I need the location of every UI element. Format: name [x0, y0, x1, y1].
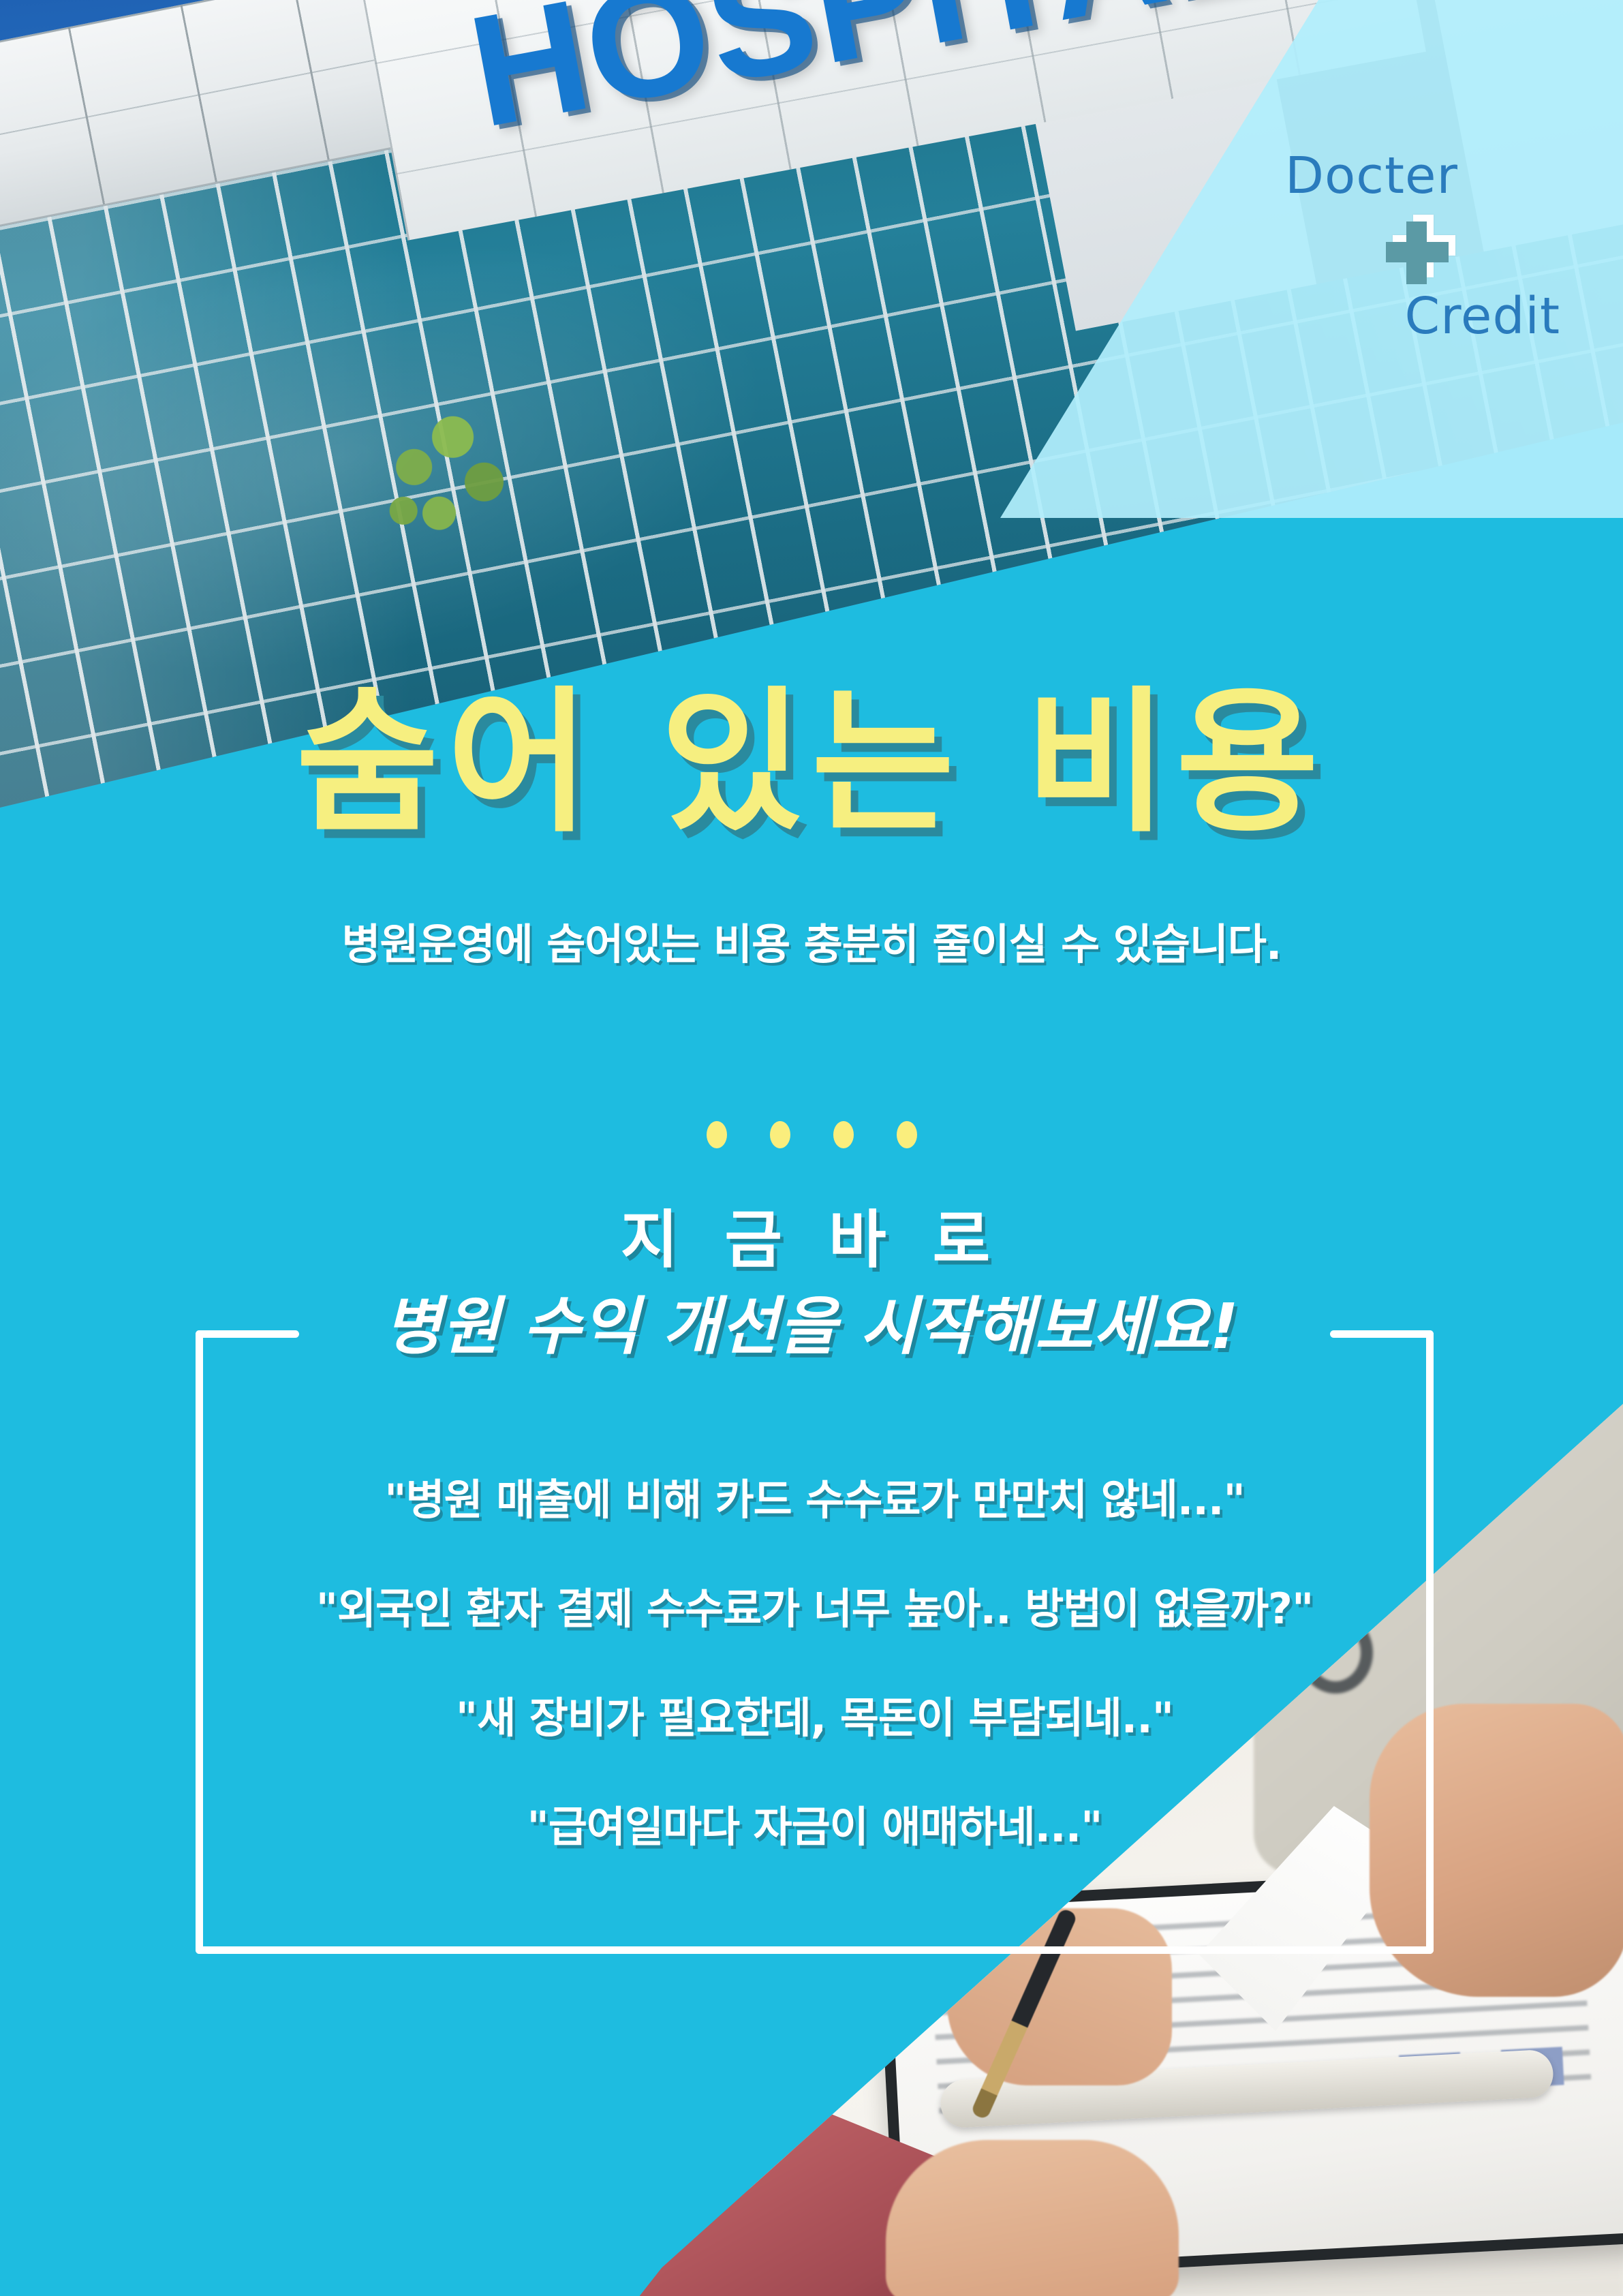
brand-logo: Docter Credit	[1281, 147, 1567, 385]
medical-cross-icon	[1393, 215, 1455, 277]
quote-item-3: "새 장비가 필요한데, 목돈이 부담되네.."	[196, 1683, 1434, 1745]
page-subtitle: 병원운영에 숨어있는 비용 충분히 줄이실 수 있습니다.	[0, 910, 1623, 971]
frame-bottom-edge	[196, 1946, 1434, 1954]
tree-foliage	[356, 384, 540, 568]
dot-3	[833, 1121, 854, 1148]
brand-name-bottom: Credit	[1281, 287, 1567, 346]
dot-1	[707, 1121, 727, 1148]
dot-2	[770, 1121, 790, 1148]
cta-line-2: 병원 수익 개선을 시작해보세요!	[0, 1276, 1623, 1366]
cross-teal-layer	[1386, 221, 1449, 284]
quote-item-2: "외국인 환자 결제 수수료가 너무 높아.. 방법이 없을까?"	[196, 1574, 1434, 1636]
decorative-dots	[0, 1121, 1623, 1148]
dot-4	[897, 1121, 917, 1148]
poster-root: HOSPITAL Docter Credit 숨어 있는 비용 병원운영에 숨어…	[0, 0, 1623, 2296]
quote-item-4: "급여일마다 자금이 애매하네..."	[196, 1792, 1434, 1854]
brand-name-top: Docter	[1281, 147, 1567, 205]
page-title: 숨어 있는 비용	[0, 685, 1623, 840]
cta-line-1: 지 금 바 로	[0, 1189, 1623, 1280]
hand-bottom	[886, 2140, 1179, 2296]
quote-item-1: "병원 매출에 비해 카드 수수료가 만만치 않네..."	[196, 1465, 1434, 1527]
quote-list: "병원 매출에 비해 카드 수수료가 만만치 않네..." "외국인 환자 결제…	[196, 1465, 1434, 1854]
